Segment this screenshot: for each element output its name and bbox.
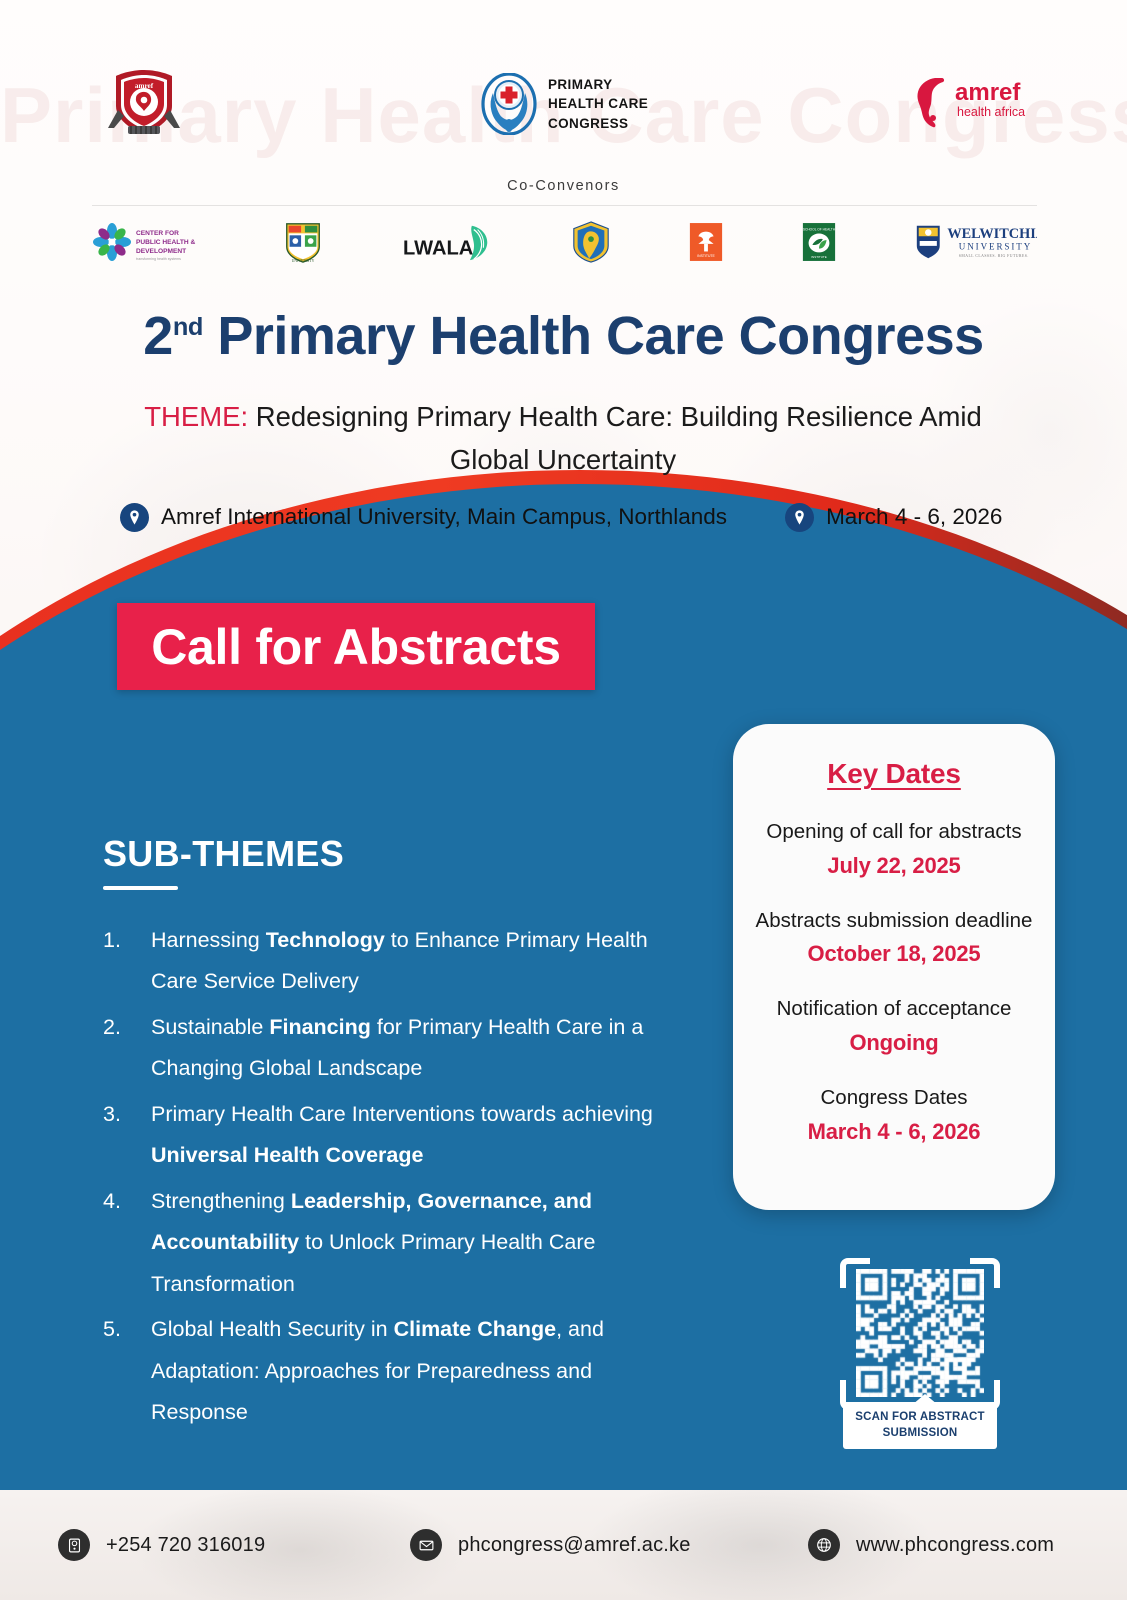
svg-text:LWALA: LWALA [403,237,473,259]
venue-date-row: Amref International University, Main Cam… [120,497,1010,537]
subthemes-section: SUB-THEMES 1.Harnessing Technology to En… [103,833,673,1438]
globe-icon [808,1529,840,1561]
subtheme-fragment: Global Health Security in [151,1317,394,1341]
subtheme-text: Strengthening Leadership, Governance, an… [151,1181,673,1305]
call-for-abstracts-label: Call for Abstracts [151,618,561,676]
poster-header: amref [0,0,1127,200]
contact-email-text: phcongress@amref.ac.ke [458,1534,691,1557]
svg-text:transforming health systems: transforming health systems [136,257,181,261]
qr-code-icon[interactable] [856,1269,984,1397]
qr-caption-line-2: SUBMISSION [847,1426,993,1442]
subthemes-underline [103,886,178,890]
key-date-entry: Abstracts submission deadlineOctober 18,… [753,907,1035,968]
phcc-mark-icon [480,73,538,135]
poster-footer: +254 720 316019 phcongress@amref.ac.ke w… [0,1490,1127,1600]
theme-label: THEME: [144,401,248,432]
amref-health-africa-logo: amref health africa [905,74,1033,130]
key-date-value: March 4 - 6, 2026 [753,1119,1035,1145]
subtheme-text: Harnessing Technology to Enhance Primary… [151,920,673,1003]
lwala-logo: LWALA [401,219,493,265]
subtheme-text: Primary Health Care Interventions toward… [151,1094,673,1177]
co-convenors-label: Co-Convenors [0,178,1127,194]
key-date-entry: Opening of call for abstractsJuly 22, 20… [753,818,1035,879]
theme-text: Redesigning Primary Health Care: Buildin… [248,401,982,475]
svg-text:UNIVERSITY: UNIVERSITY [959,242,1032,252]
phcc-line-2: HEALTH CARE [548,94,648,114]
subtheme-number: 4. [103,1181,137,1305]
svg-text:amref: amref [135,82,154,90]
orange-institute-logo: INSTITUTE [688,219,724,265]
header-divider [92,205,1037,206]
subtheme-fragment: Primary Health Care Interventions toward… [151,1102,653,1126]
envelope-icon [410,1529,442,1561]
key-date-value: Ongoing [753,1030,1035,1056]
date-text: March 4 - 6, 2026 [826,504,1002,530]
subtheme-fragment: Strengthening [151,1189,291,1213]
subtheme-fragment: Sustainable [151,1015,269,1039]
key-date-value: October 18, 2025 [753,941,1035,967]
subthemes-list: 1.Harnessing Technology to Enhance Prima… [103,920,673,1434]
subtheme-keyword: Financing [269,1015,371,1039]
contact-phone-text: +254 720 316019 [106,1534,265,1557]
subthemes-heading: SUB-THEMES [103,833,673,875]
svg-text:INSTITUTE: INSTITUTE [811,255,827,259]
amref-international-university-logo: amref [98,66,190,138]
phcc-line-3: CONGRESS [548,114,648,134]
contact-email[interactable]: phcongress@amref.ac.ke [410,1529,691,1561]
title-ordinal: 2 [143,306,173,366]
key-date-entry: Congress DatesMarch 4 - 6, 2026 [753,1084,1035,1145]
subtheme-item: 3.Primary Health Care Interventions towa… [103,1094,673,1177]
subtheme-fragment: Harnessing [151,928,266,952]
qr-code-frame [840,1258,1000,1410]
subtheme-text: Global Health Security in Climate Change… [151,1309,673,1433]
date-item: March 4 - 6, 2026 [785,503,1002,532]
subtheme-keyword: Climate Change [394,1317,556,1341]
primary-health-care-congress-logo: PRIMARY HEALTH CARE CONGRESS [480,72,670,136]
key-date-entry: Notification of acceptanceOngoing [753,995,1035,1056]
map-pin-icon [120,503,149,532]
key-date-label: Notification of acceptance [753,995,1035,1023]
contact-website[interactable]: www.phcongress.com [808,1529,1054,1561]
page-title: 2nd Primary Health Care Congress [0,305,1127,367]
green-institute-logo: SCHOOL OF HEALTH INSTITUTE [801,219,837,265]
key-dates-entries: Opening of call for abstractsJuly 22, 20… [753,818,1035,1145]
subtheme-item: 5.Global Health Security in Climate Chan… [103,1309,673,1433]
cphd-line-1: CENTER FOR [136,230,179,237]
svg-text:UNIVERSITY: UNIVERSITY [291,259,314,263]
map-pin-icon [785,503,814,532]
subtheme-number: 2. [103,1007,137,1090]
qr-code-block[interactable]: SCAN FOR ABSTRACT SUBMISSION [840,1258,1000,1440]
welwitchia-university-logo: WELWITCHIA UNIVERSITY SMALL CLASSES. BIG… [913,219,1037,265]
svg-text:health africa: health africa [957,105,1025,119]
venue-item: Amref International University, Main Cam… [120,503,727,532]
subtheme-number: 5. [103,1309,137,1433]
co-convenor-logos: CENTER FOR PUBLIC HEALTH & DEVELOPMENT t… [92,214,1037,270]
subtheme-item: 4.Strengthening Leadership, Governance, … [103,1181,673,1305]
contact-phone[interactable]: +254 720 316019 [58,1529,265,1561]
cphd-line-3: DEVELOPMENT [136,248,186,255]
key-dates-card: Key Dates Opening of call for abstractsJ… [733,724,1055,1210]
svg-text:INSTITUTE: INSTITUTE [697,254,715,258]
svg-text:SMALL CLASSES. BIG FUTURES.: SMALL CLASSES. BIG FUTURES. [959,254,1029,258]
venue-text: Amref International University, Main Cam… [161,504,727,530]
qr-caption-line-1: SCAN FOR ABSTRACT [847,1410,993,1426]
subtheme-number: 3. [103,1094,137,1177]
svg-text:SCHOOL OF HEALTH: SCHOOL OF HEALTH [802,228,835,232]
title-main: Primary Health Care Congress [203,306,984,366]
svg-text:WELWITCHIA: WELWITCHIA [947,226,1037,242]
key-date-label: Abstracts submission deadline [753,907,1035,935]
subtheme-keyword: Technology [266,928,385,952]
svg-text:amref: amref [955,79,1021,106]
key-date-value: July 22, 2025 [753,853,1035,879]
subtheme-item: 2.Sustainable Financing for Primary Heal… [103,1007,673,1090]
cphd-line-2: PUBLIC HEALTH & [136,239,195,246]
subtheme-number: 1. [103,920,137,1003]
call-for-abstracts-banner: Call for Abstracts [117,603,595,690]
africa-shield-logo [570,219,612,265]
phcc-wordmark: PRIMARY HEALTH CARE CONGRESS [548,75,648,134]
phcc-line-1: PRIMARY [548,75,648,95]
poster-root: Primary Health Care Congress amref [0,0,1127,1600]
phone-icon [58,1529,90,1561]
subtheme-text: Sustainable Financing for Primary Health… [151,1007,673,1090]
theme-statement: THEME: Redesigning Primary Health Care: … [118,396,1008,481]
university-crest-logo: UNIVERSITY [281,219,325,265]
title-ordinal-suffix: nd [173,313,203,341]
key-dates-title: Key Dates [753,758,1035,790]
subtheme-item: 1.Harnessing Technology to Enhance Prima… [103,920,673,1003]
subtheme-keyword: Universal Health Coverage [151,1143,423,1167]
key-date-label: Congress Dates [753,1084,1035,1112]
center-for-public-health-development-logo: CENTER FOR PUBLIC HEALTH & DEVELOPMENT t… [92,219,204,265]
qr-caption: SCAN FOR ABSTRACT SUBMISSION [843,1402,997,1449]
contact-website-text: www.phcongress.com [856,1534,1054,1557]
key-date-label: Opening of call for abstracts [753,818,1035,846]
